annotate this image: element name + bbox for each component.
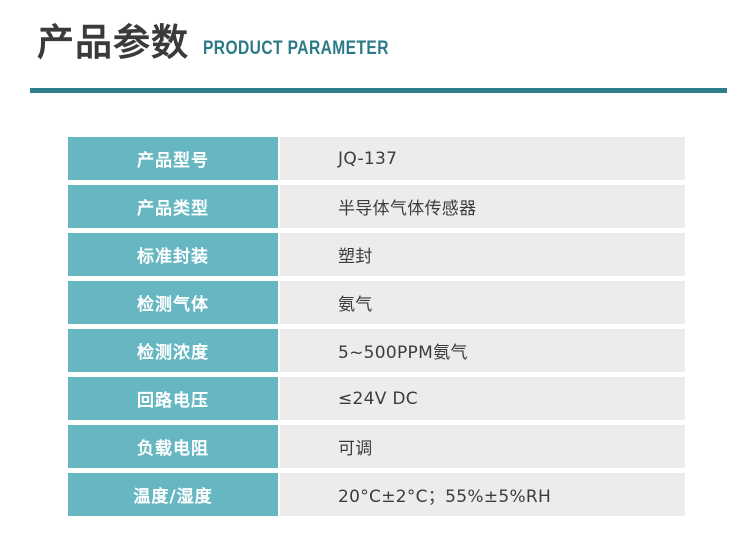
- spec-value: ≤24V DC: [280, 377, 685, 420]
- table-row: 负载电阻 可调: [68, 425, 685, 468]
- product-parameter-page: 产品参数 PRODUCT PARAMETER 产品型号 JQ-137 产品类型 …: [0, 0, 750, 550]
- spec-value: JQ-137: [280, 137, 685, 180]
- table-row: 回路电压 ≤24V DC: [68, 377, 685, 420]
- spec-value: 塑封: [280, 233, 685, 276]
- section-header: 产品参数 PRODUCT PARAMETER: [0, 0, 750, 96]
- spec-label: 检测浓度: [68, 329, 278, 372]
- table-row: 温度/湿度 20°C±2°C；55%±5%RH: [68, 473, 685, 516]
- spec-label: 产品类型: [68, 185, 278, 228]
- page-subtitle: PRODUCT PARAMETER: [203, 39, 389, 58]
- spec-value: 半导体气体传感器: [280, 185, 685, 228]
- table-row: 标准封装 塑封: [68, 233, 685, 276]
- table-row: 产品类型 半导体气体传感器: [68, 185, 685, 228]
- spec-label: 回路电压: [68, 377, 278, 420]
- spec-label: 检测气体: [68, 281, 278, 324]
- table-row: 检测浓度 5~500PPM氨气: [68, 329, 685, 372]
- spec-table: 产品型号 JQ-137 产品类型 半导体气体传感器 标准封装 塑封 检测气体 氨…: [68, 137, 685, 516]
- table-row: 产品型号 JQ-137: [68, 137, 685, 180]
- header-divider: [30, 88, 727, 93]
- spec-value: 5~500PPM氨气: [280, 329, 685, 372]
- spec-value: 20°C±2°C；55%±5%RH: [280, 473, 685, 516]
- spec-value: 氨气: [280, 281, 685, 324]
- table-row: 检测气体 氨气: [68, 281, 685, 324]
- spec-value: 可调: [280, 425, 685, 468]
- page-title: 产品参数: [37, 24, 189, 61]
- header-title-group: 产品参数 PRODUCT PARAMETER: [37, 24, 430, 61]
- spec-label: 负载电阻: [68, 425, 278, 468]
- spec-label: 温度/湿度: [68, 473, 278, 516]
- spec-label: 产品型号: [68, 137, 278, 180]
- spec-label: 标准封装: [68, 233, 278, 276]
